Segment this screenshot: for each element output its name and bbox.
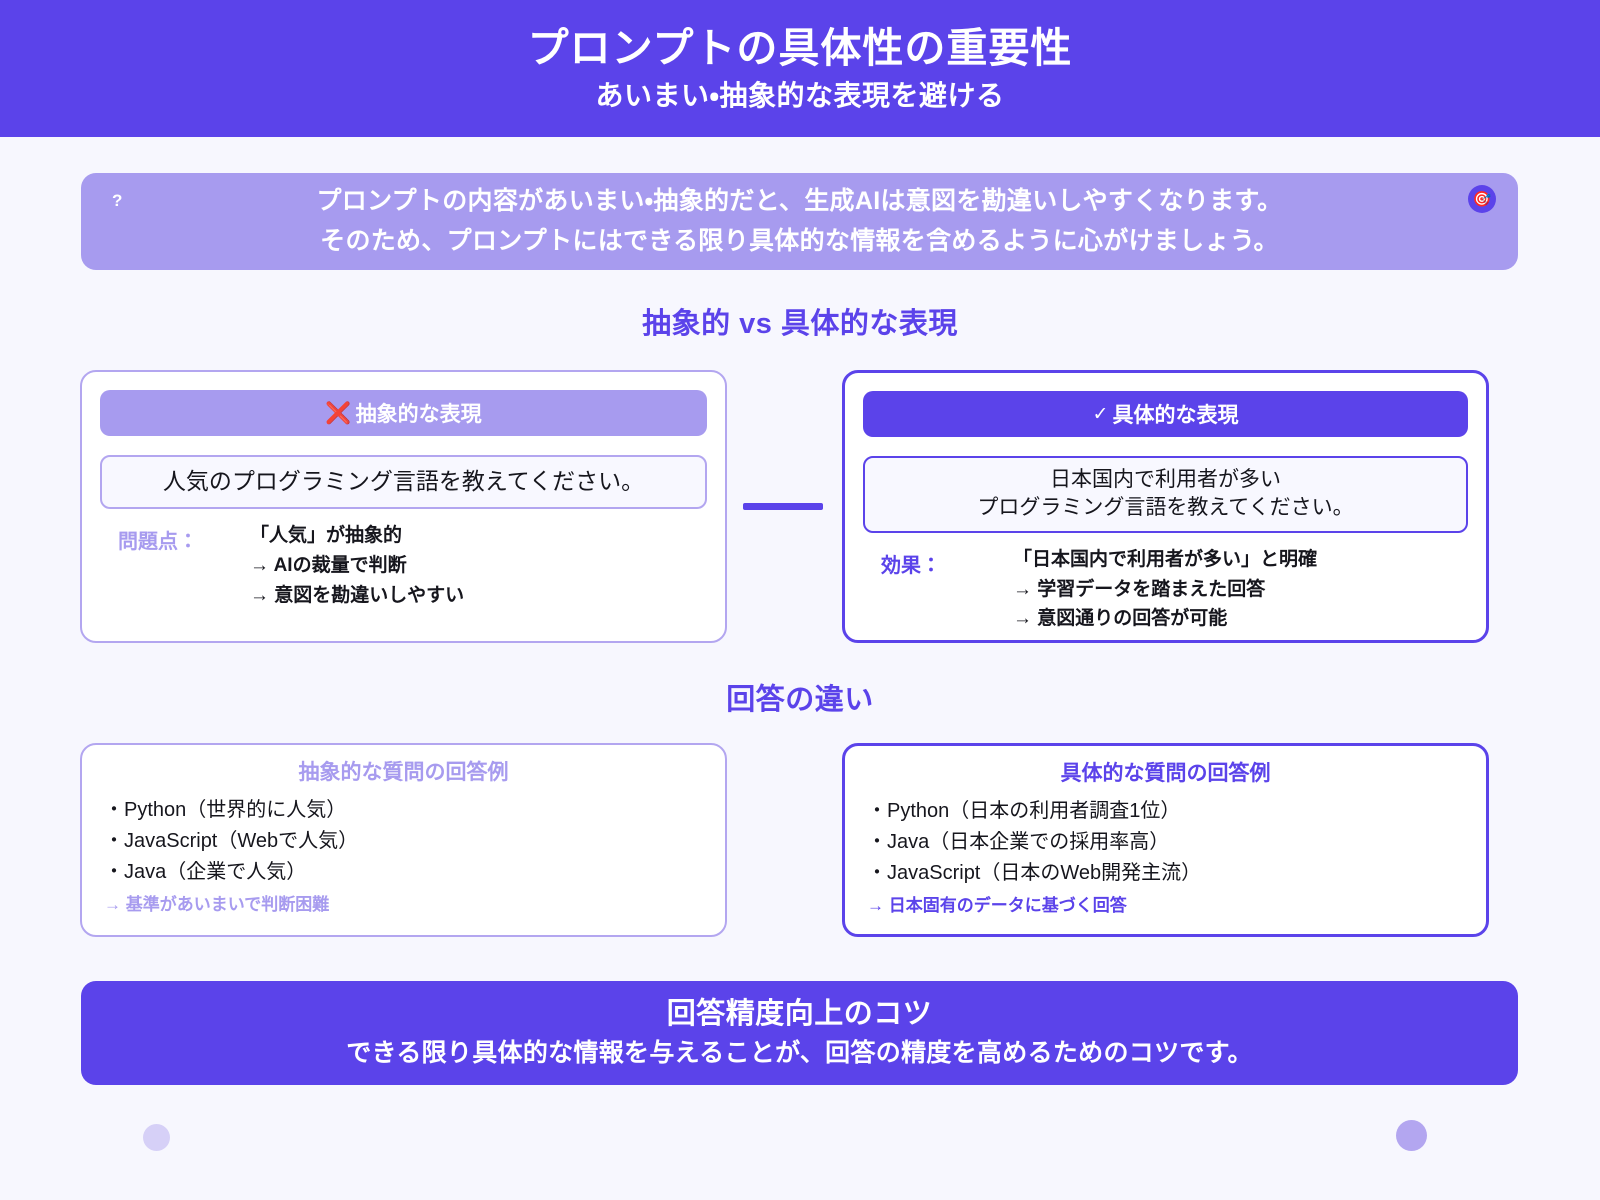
list-item: 「日本国内で利用者が多い」と明確 xyxy=(1013,549,1317,571)
section-heading-answers: 回答の違い xyxy=(0,676,1600,718)
list-item: ・JavaScript（Webで人気） xyxy=(104,829,703,853)
decorative-dot-right xyxy=(1396,1120,1427,1151)
list-item: → 意図通りの回答が可能 xyxy=(1013,608,1317,630)
list-item: ・Python（世界的に人気） xyxy=(104,798,703,822)
abstract-prompt-box: 人気のプログラミング言語を教えてください。 xyxy=(100,455,707,509)
list-item: ・Java（企業で人気） xyxy=(104,860,703,884)
concrete-answer-list: ・Python（日本の利用者調査1位） ・Java（日本企業での採用率高） ・J… xyxy=(867,799,1464,885)
concrete-answer-title: 具体的な質問の回答例 xyxy=(867,762,1464,785)
abstract-expression-card: ❌ 抽象的な表現 人気のプログラミング言語を教えてください。 問題点： 「人気」… xyxy=(80,370,727,643)
section-heading-compare: 抽象的 vs 具体的な表現 xyxy=(0,300,1600,342)
question-mark-icon: ? xyxy=(112,191,122,211)
concrete-card-banner: ✓ 具体的な表現 xyxy=(863,391,1468,437)
intro-line-1: プロンプトの内容があいまい・抽象的だと、生成AIは意図を勘違いしやすくなります。 xyxy=(316,182,1282,222)
decorative-dot-left xyxy=(143,1124,170,1151)
target-icon: 🎯 xyxy=(1468,185,1496,213)
tips-footer-text: できる限り具体的な情報を与えることが、回答の精度を高めるためのコツです。 xyxy=(346,1040,1253,1068)
abstract-detail-row: 問題点： 「人気」が抽象的 → AIの裁量で判断 → 意図を勘違いしやすい xyxy=(100,525,707,607)
concrete-expression-card: ✓ 具体的な表現 日本国内で利用者が多い プログラミング言語を教えてください。 … xyxy=(842,370,1489,643)
abstract-detail-label: 問題点： xyxy=(100,525,250,554)
concrete-detail-row: 効果： 「日本国内で利用者が多い」と明確 → 学習データを踏まえた回答 → 意図… xyxy=(863,549,1468,631)
list-item: → 意図を勘違いしやすい xyxy=(250,585,464,607)
abstract-answer-title: 抽象的な質問の回答例 xyxy=(104,761,703,784)
list-item: 「人気」が抽象的 xyxy=(250,525,464,547)
tips-footer-card: 回答精度向上のコツ できる限り具体的な情報を与えることが、回答の精度を高めるため… xyxy=(81,981,1518,1085)
abstract-card-banner-label: 抽象的な表現 xyxy=(356,398,482,428)
abstract-answer-card: 抽象的な質問の回答例 ・Python（世界的に人気） ・JavaScript（W… xyxy=(80,743,727,937)
abstract-card-banner: ❌ 抽象的な表現 xyxy=(100,390,707,436)
comparison-connector-bar xyxy=(743,503,823,510)
list-item: ・Java（日本企業での採用率高） xyxy=(867,830,1464,854)
concrete-prompt-box: 日本国内で利用者が多い プログラミング言語を教えてください。 xyxy=(863,456,1468,533)
concrete-detail-list: 「日本国内で利用者が多い」と明確 → 学習データを踏まえた回答 → 意図通りの回… xyxy=(1013,549,1317,631)
list-item: → AIの裁量で判断 xyxy=(250,555,464,577)
concrete-answer-note: → 日本固有のデータに基づく回答 xyxy=(867,897,1464,916)
concrete-answer-card: 具体的な質問の回答例 ・Python（日本の利用者調査1位） ・Java（日本企… xyxy=(842,743,1489,937)
page-subtitle: あいまい・抽象的な表現を避ける xyxy=(595,81,1004,112)
check-mark-icon: ✓ xyxy=(1093,405,1109,424)
tips-footer-title: 回答精度向上のコツ xyxy=(667,999,933,1031)
abstract-detail-list: 「人気」が抽象的 → AIの裁量で判断 → 意図を勘違いしやすい xyxy=(250,525,464,607)
page-header: プロンプトの具体性の重要性 あいまい・抽象的な表現を避ける xyxy=(0,0,1600,137)
page-title: プロンプトの具体性の重要性 xyxy=(528,26,1073,71)
abstract-answer-list: ・Python（世界的に人気） ・JavaScript（Webで人気） ・Jav… xyxy=(104,798,703,884)
intro-banner: ? プロンプトの内容があいまい・抽象的だと、生成AIは意図を勘違いしやすくなりま… xyxy=(81,173,1518,270)
intro-text: プロンプトの内容があいまい・抽象的だと、生成AIは意図を勘違いしやすくなります。… xyxy=(316,182,1282,261)
concrete-card-banner-label: 具体的な表現 xyxy=(1112,399,1238,429)
cross-mark-icon: ❌ xyxy=(325,403,351,424)
abstract-prompt-text: 人気のプログラミング言語を教えてください。 xyxy=(163,467,644,497)
list-item: ・Python（日本の利用者調査1位） xyxy=(867,799,1464,823)
list-item: → 学習データを踏まえた回答 xyxy=(1013,579,1317,601)
concrete-prompt-line-1: 日本国内で利用者が多い xyxy=(1050,466,1281,494)
intro-line-2: そのため、プロンプトにはできる限り具体的な情報を含めるように心がけましょう。 xyxy=(316,222,1282,262)
concrete-prompt-line-2: プログラミング言語を教えてください。 xyxy=(977,494,1353,522)
concrete-detail-label: 効果： xyxy=(863,549,1013,578)
abstract-answer-note: → 基準があいまいで判断困難 xyxy=(104,896,703,915)
list-item: ・JavaScript（日本のWeb開発主流） xyxy=(867,861,1464,885)
